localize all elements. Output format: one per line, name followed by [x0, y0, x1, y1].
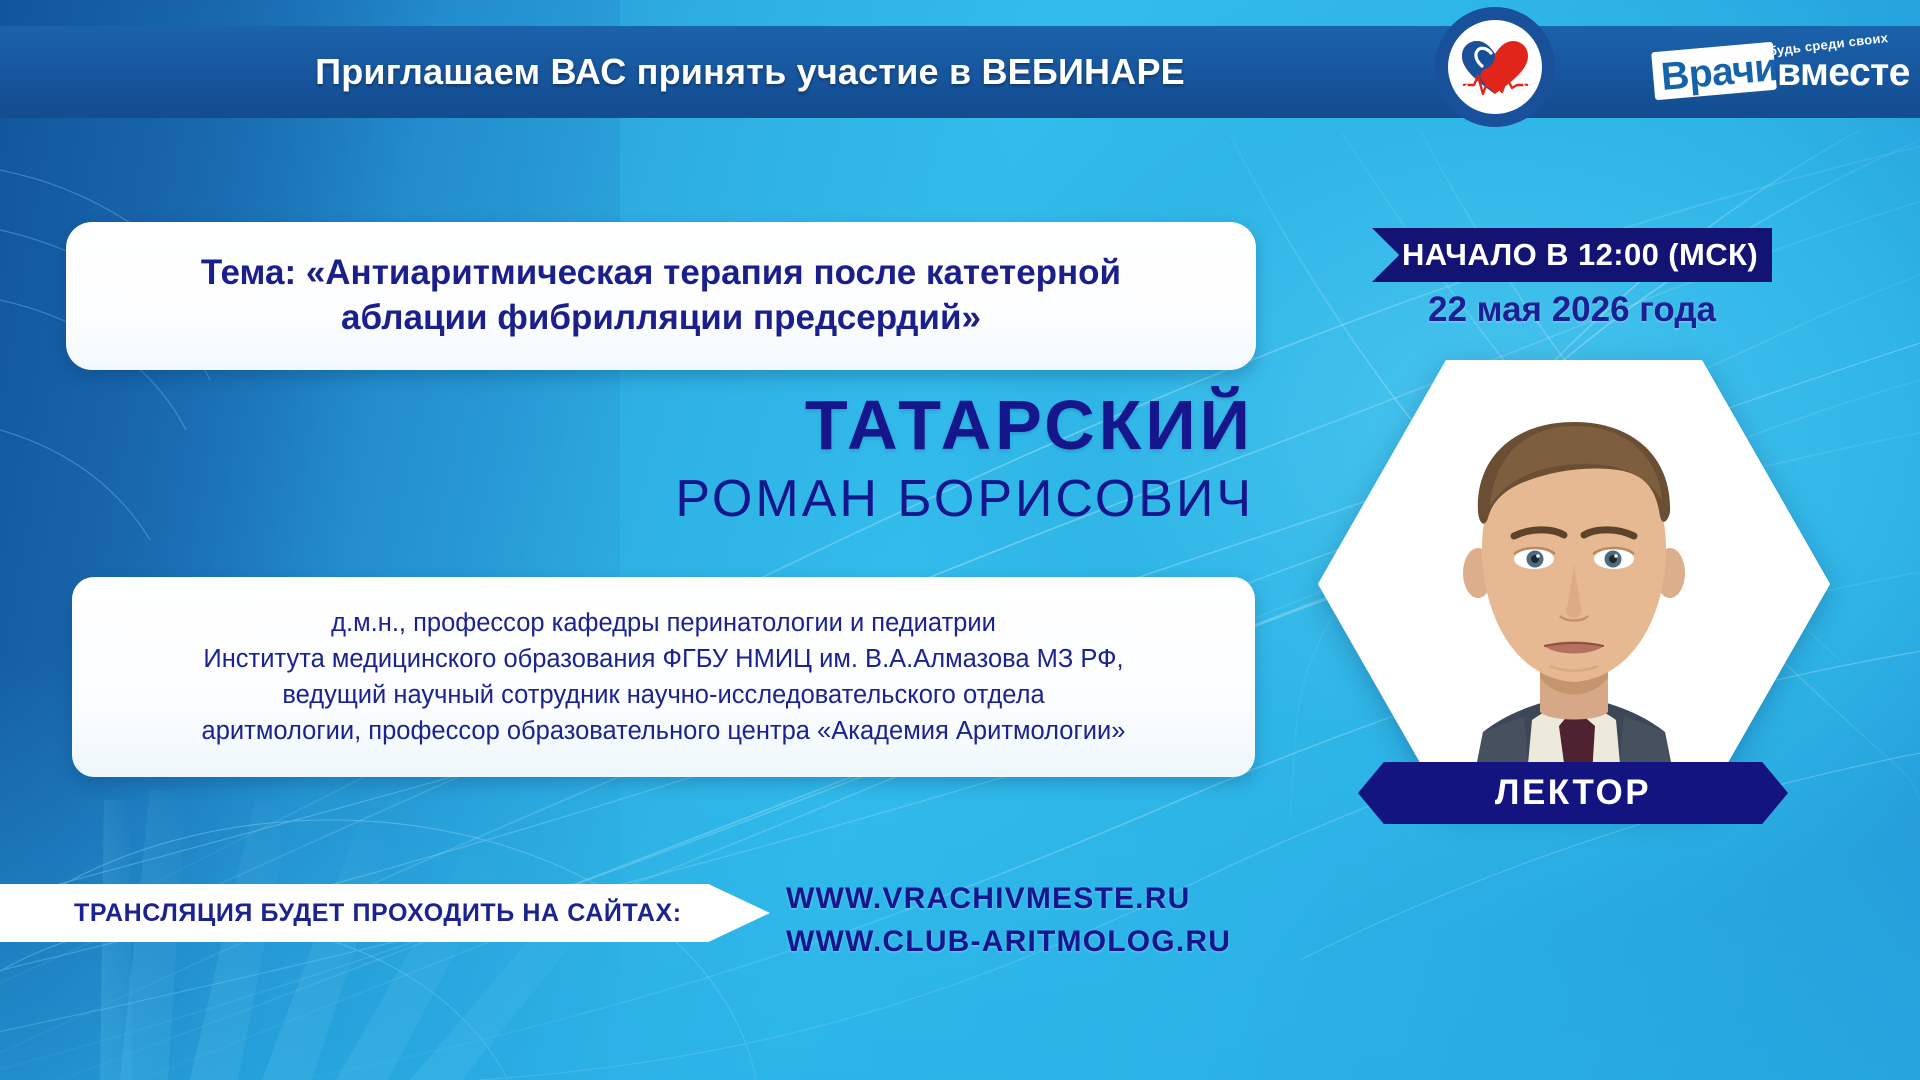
header-bar: Приглашаем ВАС принять участие в ВЕБИНАР… — [0, 26, 1920, 118]
lector-badge-text: ЛЕКТОР — [1495, 773, 1651, 813]
header-title: Приглашаем ВАС принять участие в ВЕБИНАР… — [0, 26, 1500, 118]
broadcast-label-text: ТРАНСЛЯЦИЯ БУДЕТ ПРОХОДИТЬ НА САЙТАХ: — [0, 899, 682, 928]
topic-text: Тема: «Антиаритмическая терапия после ка… — [157, 251, 1165, 341]
site-link-vrachivmeste[interactable]: WWW.VRACHIVMESTE.RU — [786, 878, 1231, 921]
vmeste-word: вместе — [1777, 51, 1910, 95]
vrachi-word: Врачи — [1659, 46, 1779, 100]
site-link-club-aritmolog[interactable]: WWW.CLUB-ARITMOLOG.RU — [786, 921, 1231, 964]
lecturer-last-name: ТАТАРСКИЙ — [0, 390, 1254, 460]
lecturer-portrait — [1318, 360, 1830, 808]
poster-canvas: Приглашаем ВАС принять участие в ВЕБИНАР… — [0, 0, 1920, 1080]
topic-card: Тема: «Антиаритмическая терапия после ка… — [66, 222, 1256, 370]
start-time-text: НАЧАЛО В 12:00 (МСК) — [1386, 237, 1758, 273]
lecturer-bio-text: д.м.н., профессор кафедры перинатологии … — [180, 605, 1148, 750]
vrachi-vmeste-logo: Врачи вместе будь среди своих — [1653, 34, 1893, 96]
lecturer-first-patronymic: РОМАН БОРИСОВИЧ — [0, 466, 1254, 534]
lector-badge: ЛЕКТОР — [1358, 762, 1788, 824]
event-date-text: 22 мая 2026 года — [1372, 290, 1772, 330]
lecturer-name-block: ТАТАРСКИЙ РОМАН БОРИСОВИЧ — [0, 390, 1258, 534]
broadcast-label-banner: ТРАНСЛЯЦИЯ БУДЕТ ПРОХОДИТЬ НА САЙТАХ: — [0, 884, 770, 942]
broadcast-sites-list: WWW.VRACHIVMESTE.RU WWW.CLUB-ARITMOLOG.R… — [786, 878, 1231, 963]
lecturer-bio-card: д.м.н., профессор кафедры перинатологии … — [72, 577, 1255, 777]
lecturer-photo-hexagon — [1318, 360, 1830, 808]
start-time-banner: НАЧАЛО В 12:00 (МСК) — [1372, 228, 1772, 282]
club-aritmologov-rossii-logo: КЛУБ АРИТМОЛОГОВ РОССИИ — [1434, 6, 1556, 128]
